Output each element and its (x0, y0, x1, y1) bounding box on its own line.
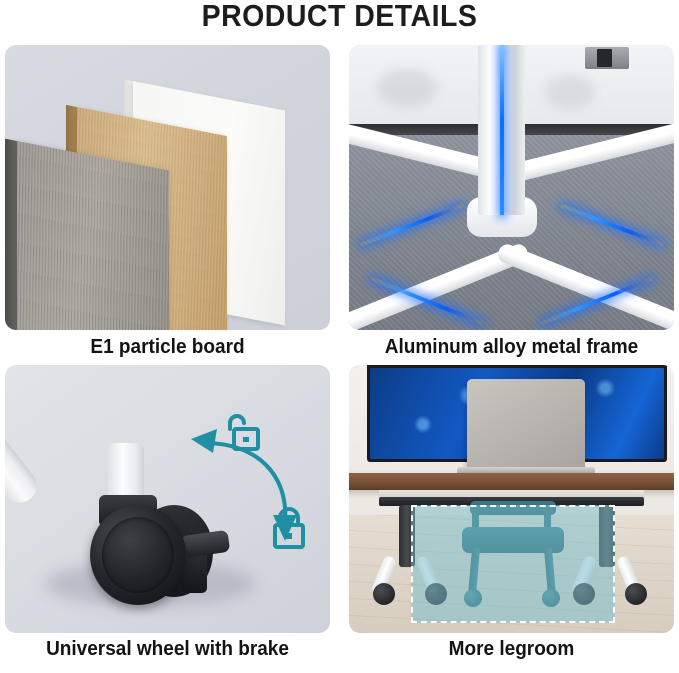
gray-board (17, 141, 169, 330)
unlock-icon (221, 413, 261, 455)
desk-leg-lower (108, 443, 144, 501)
desk-caster-left-front (373, 583, 395, 605)
feature-cell-metal-frame: Aluminum alloy metal frame (349, 45, 674, 330)
particle-board-photo (5, 45, 330, 330)
legroom-highlight-area (411, 505, 615, 623)
wall-shadow-right (545, 75, 595, 109)
lock-icon (269, 507, 309, 551)
desk-caster-right-back (625, 583, 647, 605)
desk-leg-upper (5, 386, 43, 509)
caption-metal-frame: Aluminum alloy metal frame (350, 335, 674, 359)
product-details-infographic: PRODUCT DETAILS E1 particle board (0, 0, 679, 673)
desk-top-surface (349, 473, 674, 490)
caption-particle-board: E1 particle board (6, 335, 330, 359)
universal-wheel-photo (5, 365, 330, 633)
laptop (467, 379, 585, 469)
frame-column (478, 45, 525, 215)
led-strip-column (500, 45, 504, 215)
wall-shadow-left (377, 69, 437, 107)
page-title: PRODUCT DETAILS (27, 0, 652, 32)
gray-board-face (17, 141, 169, 330)
caption-more-legroom: More legroom (350, 637, 674, 661)
caster-wheel-front (90, 505, 186, 605)
caption-universal-wheel: Universal wheel with brake (6, 637, 330, 661)
feature-cell-more-legroom: More legroom (349, 365, 674, 633)
gray-board-edge (5, 139, 17, 330)
feature-cell-universal-wheel: Universal wheel with brake (5, 365, 330, 633)
feature-grid: E1 particle board (0, 40, 679, 673)
more-legroom-photo (349, 365, 674, 633)
control-box (585, 47, 629, 69)
metal-frame-photo (349, 45, 674, 330)
feature-cell-particle-board: E1 particle board (5, 45, 330, 330)
